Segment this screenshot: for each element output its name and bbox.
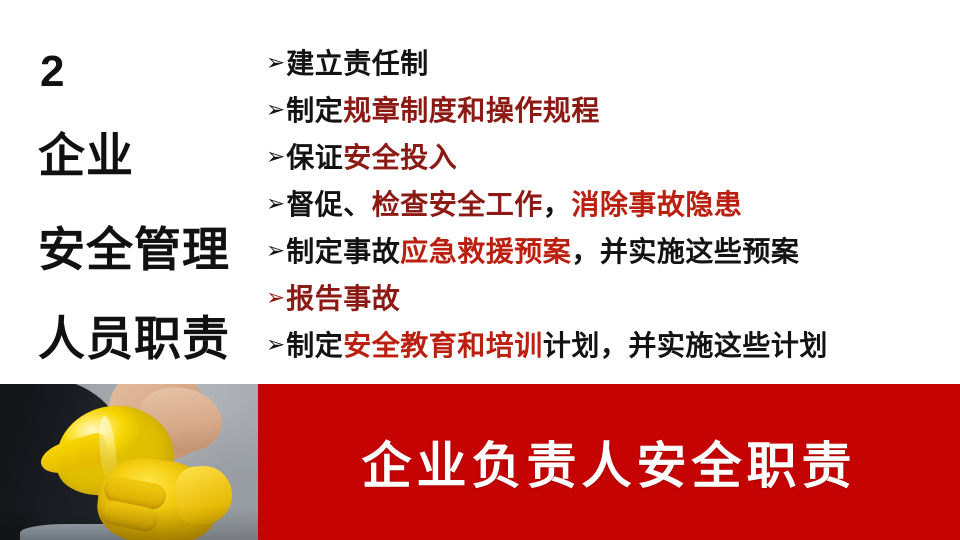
text-segment: 消除事故隐患 — [571, 189, 742, 220]
text-segment: 应急救援预案 — [400, 236, 571, 267]
bullet-text: 督促、检查安全工作，消除事故隐患 — [286, 191, 742, 219]
text-segment: ， — [543, 189, 572, 220]
bullet-text: 保证安全投入 — [286, 144, 457, 172]
arrow-bullet-icon: ➢ — [266, 333, 285, 356]
arrow-bullet-icon: ➢ — [266, 286, 285, 309]
arrow-bullet-icon: ➢ — [266, 51, 285, 74]
text-segment: 报告事故 — [286, 283, 400, 314]
bullet-text: 制定事故应急救援预案，并实施这些预案 — [286, 238, 799, 266]
slide-root: 2 企业 安全管理 人员职责 ➢ 建立责任制 ➢ 制定规章制度和操作规程 ➢ 保… — [0, 0, 960, 540]
text-segment: 规章制度和 — [343, 95, 486, 126]
slide-number: 2 — [40, 50, 64, 94]
arrow-bullet-icon: ➢ — [266, 145, 285, 168]
text-segment: 制定 — [286, 330, 343, 361]
worker-helmet-photo — [0, 384, 258, 540]
text-segment: 制定 — [286, 95, 343, 126]
slide-title-column: 2 企业 安全管理 人员职责 — [0, 0, 258, 384]
arrow-bullet-icon: ➢ — [266, 192, 285, 215]
text-segment: 检查安全工作 — [372, 189, 543, 220]
title-line-2: 安全管理 — [38, 226, 230, 273]
text-segment: ，并实施这些预案 — [571, 236, 799, 267]
bullet-item-supervise-inspect-safety-work: ➢ 督促、检查安全工作，消除事故隐患 — [266, 181, 954, 228]
arrow-bullet-icon: ➢ — [266, 98, 285, 121]
bullet-text: 报告事故 — [286, 285, 400, 313]
bullet-text: 建立责任制 — [286, 50, 429, 78]
text-segment: 保证 — [286, 142, 343, 173]
bullet-item-guarantee-safety-investment: ➢ 保证安全投入 — [266, 134, 954, 181]
text-segment: 计划，并实施这些计划 — [543, 330, 828, 361]
text-segment: 安全教育和培训 — [343, 330, 543, 361]
bullet-item-report-accidents: ➢ 报告事故 — [266, 275, 954, 322]
bullet-text: 制定安全教育和培训计划，并实施这些计划 — [286, 332, 828, 360]
bullet-item-emergency-rescue-plan: ➢ 制定事故应急救援预案，并实施这些预案 — [266, 228, 954, 275]
title-line-3: 人员职责 — [38, 315, 230, 362]
text-segment: 建立责任制 — [286, 48, 429, 79]
text-segment: 安全投入 — [343, 142, 457, 173]
banner-title: 企业负责人安全职责 — [258, 384, 960, 540]
bullet-item-safety-education-training-plan: ➢ 制定安全教育和培训计划，并实施这些计划 — [266, 322, 954, 369]
text-segment: 操作规程 — [486, 95, 600, 126]
title-line-1: 企业 — [38, 132, 134, 179]
bullet-item-formulate-rules-and-procedures: ➢ 制定规章制度和操作规程 — [266, 87, 954, 134]
bullet-item-establish-responsibility-system: ➢ 建立责任制 — [266, 40, 954, 87]
bullet-list: ➢ 建立责任制 ➢ 制定规章制度和操作规程 ➢ 保证安全投入 ➢ 督促、检查安全… — [266, 40, 954, 384]
arrow-bullet-icon: ➢ — [266, 239, 285, 262]
text-segment: 制定事故 — [286, 236, 400, 267]
photo-vignette — [0, 506, 258, 540]
bullet-text: 制定规章制度和操作规程 — [286, 97, 600, 125]
text-segment: 督促、 — [286, 189, 372, 220]
